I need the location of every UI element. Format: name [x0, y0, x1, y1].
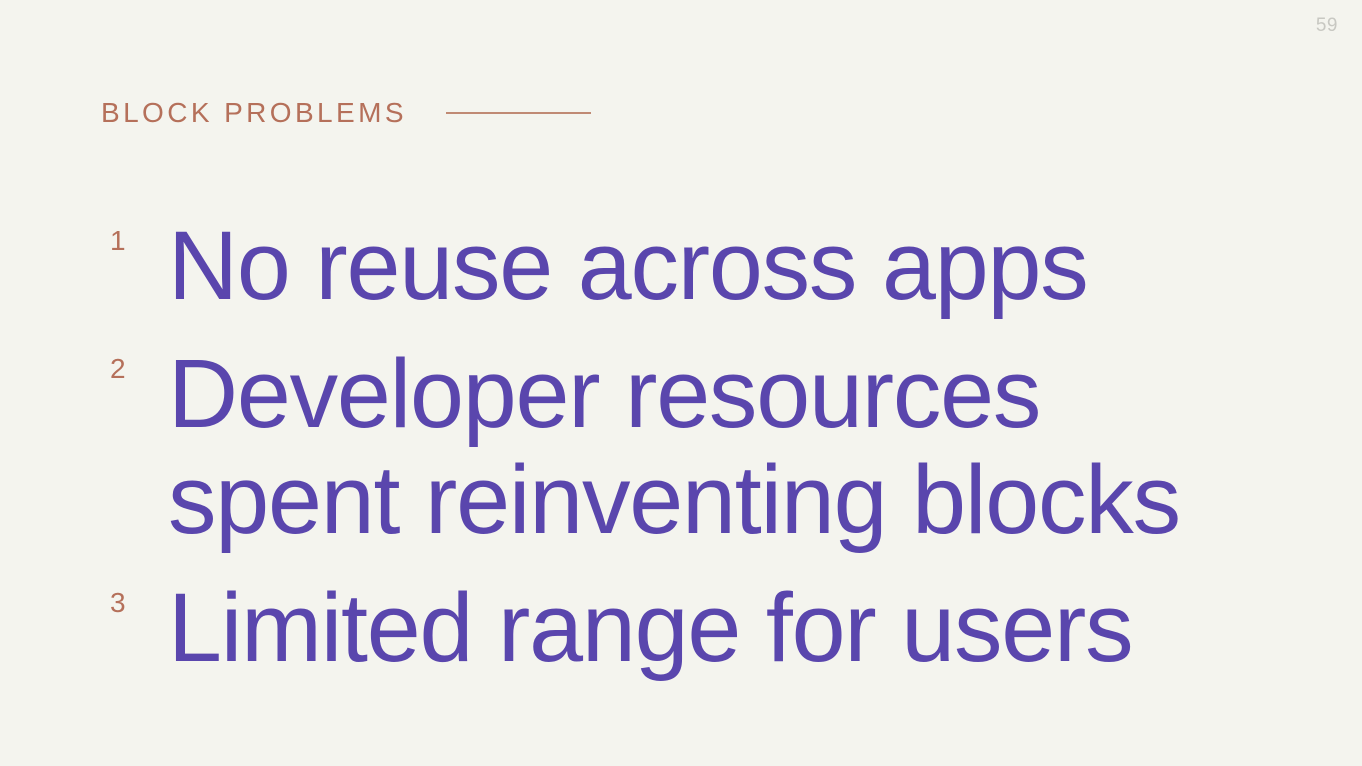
list-item: 1 No reuse across apps — [101, 213, 1251, 319]
list-item-number: 2 — [110, 355, 126, 383]
list-item-number: 1 — [110, 227, 126, 255]
header-rule-divider — [446, 112, 591, 114]
list-item-text: No reuse across apps — [168, 213, 1251, 319]
list-item-number: 3 — [110, 589, 126, 617]
list-item-text: Limited range for users — [168, 575, 1251, 681]
numbered-list: 1 No reuse across apps 2 Developer resou… — [101, 213, 1251, 681]
page-number: 59 — [1316, 16, 1338, 35]
list-item: 2 Developer resources spent reinventing … — [101, 341, 1251, 553]
slide: 59 BLOCK PROBLEMS 1 No reuse across apps… — [0, 0, 1362, 766]
list-item: 3 Limited range for users — [101, 575, 1251, 681]
section-header: BLOCK PROBLEMS — [101, 96, 591, 130]
list-item-text: Developer resources spent reinventing bl… — [168, 341, 1251, 553]
section-header-label: BLOCK PROBLEMS — [101, 96, 407, 130]
